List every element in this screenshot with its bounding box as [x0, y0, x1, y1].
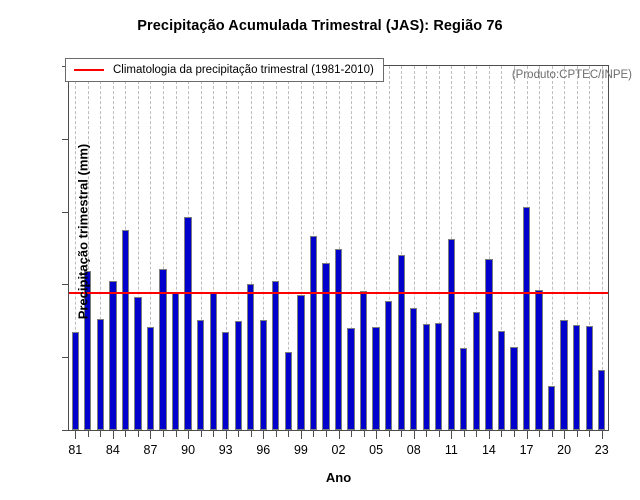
x-tick: [301, 431, 302, 439]
bar-94: [235, 321, 242, 430]
x-tick: [138, 431, 139, 437]
x-tick: [251, 431, 252, 437]
x-tick: [451, 431, 452, 439]
legend-line-swatch: [74, 69, 104, 71]
x-tick: [552, 431, 553, 437]
x-tick: [564, 431, 565, 439]
x-tick: [577, 431, 578, 437]
y-tick: [62, 284, 69, 285]
bar-22: [586, 326, 593, 430]
x-tick: [163, 431, 164, 437]
bar-83: [97, 319, 104, 430]
bar-12: [460, 348, 467, 430]
y-tick: [62, 139, 69, 140]
bar-97: [272, 281, 279, 430]
climatology-line: [69, 292, 608, 294]
x-tick: [589, 431, 590, 437]
bar-18: [535, 290, 542, 431]
bar-17: [523, 207, 530, 430]
x-tick: [75, 431, 76, 439]
bar-86: [134, 297, 141, 430]
x-tick: [439, 431, 440, 437]
bar-23: [598, 370, 605, 430]
bar-07: [398, 255, 405, 430]
x-tick-label: 99: [286, 443, 316, 457]
x-tick: [514, 431, 515, 437]
x-axis-label: Ano: [69, 470, 608, 485]
bar-15: [498, 331, 505, 430]
x-tick-label: 17: [512, 443, 542, 457]
x-tick-label: 90: [173, 443, 203, 457]
bar-01: [322, 263, 329, 430]
chart-figure: Precipitação Acumulada Trimestral (JAS):…: [0, 0, 640, 500]
bar-16: [510, 347, 517, 430]
plot-inner: [69, 66, 608, 430]
y-tick: [62, 212, 69, 213]
x-tick-label: 84: [98, 443, 128, 457]
bar-19: [548, 386, 555, 430]
bar-00: [310, 236, 317, 430]
bar-84: [109, 281, 116, 430]
x-tick: [176, 431, 177, 437]
bar-13: [473, 312, 480, 430]
x-tick: [389, 431, 390, 437]
bar-91: [197, 320, 204, 430]
bar-02: [335, 249, 342, 430]
x-tick: [339, 431, 340, 439]
x-tick-label: 02: [324, 443, 354, 457]
bar-05: [372, 327, 379, 430]
bar-99: [297, 295, 304, 430]
bar-21: [573, 325, 580, 430]
x-tick-label: 23: [587, 443, 617, 457]
bar-09: [423, 324, 430, 430]
x-tick: [313, 431, 314, 437]
x-tick: [125, 431, 126, 437]
x-tick: [489, 431, 490, 439]
bar-95: [247, 284, 254, 430]
x-tick: [476, 431, 477, 437]
x-tick: [213, 431, 214, 437]
bar-06: [385, 301, 392, 430]
x-tick: [226, 431, 227, 439]
x-tick-label: 81: [60, 443, 90, 457]
x-tick: [602, 431, 603, 439]
bar-08: [410, 308, 417, 430]
bar-90: [184, 217, 191, 430]
x-tick: [238, 431, 239, 437]
y-tick: [62, 430, 69, 431]
x-tick-label: 20: [549, 443, 579, 457]
x-tick: [201, 431, 202, 437]
x-tick-label: 93: [211, 443, 241, 457]
x-tick-label: 96: [248, 443, 278, 457]
x-tick-label: 14: [474, 443, 504, 457]
bar-87: [147, 327, 154, 430]
x-tick-label: 87: [135, 443, 165, 457]
x-tick: [501, 431, 502, 437]
bar-96: [260, 320, 267, 430]
x-tick: [401, 431, 402, 437]
page-title: Precipitação Acumulada Trimestral (JAS):…: [0, 18, 640, 34]
x-tick: [88, 431, 89, 437]
bar-03: [347, 328, 354, 430]
y-axis-label: Precipitação trimestral (mm): [76, 32, 91, 432]
bar-11: [448, 239, 455, 430]
y-tick: [62, 357, 69, 358]
x-tick: [276, 431, 277, 437]
bar-98: [285, 352, 292, 430]
x-tick: [414, 431, 415, 439]
x-tick-label: 08: [399, 443, 429, 457]
bar-85: [122, 230, 129, 430]
bar-89: [172, 292, 179, 430]
x-tick: [263, 431, 264, 439]
legend-item-label: Climatologia da precipitação trimestral …: [113, 64, 374, 76]
plot-area: 0100200300400500818487909396990205081114…: [68, 65, 609, 431]
x-tick: [539, 431, 540, 437]
bar-14: [485, 259, 492, 430]
bar-93: [222, 332, 229, 430]
x-tick: [364, 431, 365, 437]
x-tick: [188, 431, 189, 439]
bar-20: [560, 320, 567, 430]
x-tick: [113, 431, 114, 439]
legend: Climatologia da precipitação trimestral …: [65, 58, 384, 82]
bar-10: [435, 323, 442, 430]
x-tick: [288, 431, 289, 437]
x-tick: [527, 431, 528, 439]
gridline-vertical: [552, 66, 553, 430]
x-tick: [376, 431, 377, 439]
source-annotation: (Produto:CPTEC/INPE): [512, 69, 632, 81]
x-tick: [351, 431, 352, 437]
x-tick: [464, 431, 465, 437]
bar-04: [360, 291, 367, 430]
x-tick: [100, 431, 101, 437]
x-tick-label: 05: [361, 443, 391, 457]
x-tick: [426, 431, 427, 437]
x-tick: [150, 431, 151, 439]
x-tick: [326, 431, 327, 437]
bar-92: [210, 293, 217, 430]
x-tick-label: 11: [436, 443, 466, 457]
